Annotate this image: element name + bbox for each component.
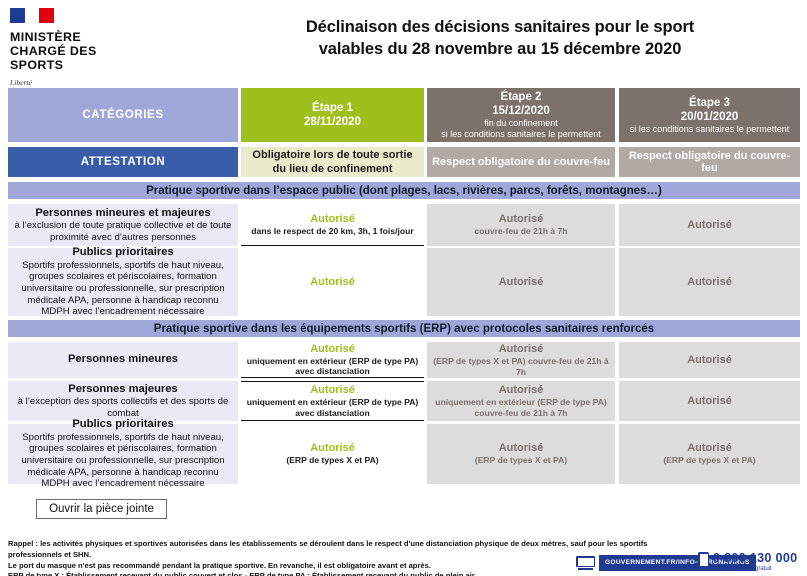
- public-row-1-step-3-status: Autorisé: [623, 219, 796, 232]
- erp-row-3-step-3-status: Autorisé: [623, 442, 796, 455]
- header-categories: CATÉGORIES: [8, 88, 238, 142]
- footer-note-line-1: Rappel : les activités physiques et spor…: [8, 539, 668, 561]
- info-phone: 0 800 130 000 appel gratuit: [698, 552, 797, 573]
- erp-row-2-label: Personnes majeures à l’exception des spo…: [8, 381, 238, 421]
- public-row-1-step-2-detail: couvre-feu de 21h à 7h: [431, 226, 611, 237]
- erp-row-1-label-title: Personnes mineures: [12, 353, 234, 367]
- public-row-1-step-3: Autorisé: [619, 204, 800, 246]
- infographic-page: MINISTÈRE CHARGÉ DES SPORTS Liberté Égal…: [0, 0, 807, 576]
- erp-row-2-label-title: Personnes majeures: [12, 383, 234, 397]
- erp-row-3-step-1: Autorisé (ERP de types X et PA): [241, 424, 424, 484]
- footer-note-line-2: Le port du masque n'est pas recommandé p…: [8, 561, 668, 572]
- step-2-sub-1: fin du confinement: [431, 118, 611, 129]
- erp-row-1-step-2-detail: (ERP de types X et PA) couvre-feu de 21h…: [431, 356, 611, 377]
- public-row-2-label-sub: Sportifs professionnels, sportifs de hau…: [12, 260, 234, 318]
- erp-row-3-step-2-status: Autorisé: [431, 442, 611, 455]
- footer-note-line-3: ERP de type X : Établissement recevant d…: [8, 571, 668, 576]
- public-row-2-step-2-status: Autorisé: [431, 276, 611, 289]
- public-row-1-label-title: Personnes mineures et majeures: [12, 207, 234, 221]
- erp-row-3-label-title: Publics prioritaires: [12, 418, 234, 432]
- step-2-date: 15/12/2020: [431, 104, 611, 118]
- erp-row-3-step-3: Autorisé (ERP de types X et PA): [619, 424, 800, 484]
- erp-row-2-step-2-status: Autorisé: [431, 384, 611, 397]
- erp-row-2-step-2: Autorisé uniquement en extérieur (ERP de…: [427, 381, 615, 421]
- erp-row-2-step-1: Autorisé uniquement en extérieur (ERP de…: [241, 381, 424, 421]
- attestation-step-3: Respect obligatoire du couvre-feu: [619, 147, 800, 177]
- erp-row-3-step-2-detail: (ERP de types X et PA): [431, 455, 611, 466]
- open-attachment-button[interactable]: Ouvrir la pièce jointe: [36, 499, 167, 519]
- erp-row-2-step-3: Autorisé: [619, 381, 800, 421]
- step-2-title: Étape 2: [431, 90, 611, 104]
- public-row-2-step-3: Autorisé: [619, 248, 800, 316]
- step-3-sub-2: si les conditions sanitaires le permette…: [623, 124, 796, 135]
- attestation-step-1: Obligatoire lors de toute sortie du lieu…: [241, 147, 424, 177]
- public-row-2-step-3-status: Autorisé: [623, 276, 796, 289]
- erp-row-1-step-3: Autorisé: [619, 342, 800, 378]
- public-row-1-step-1-status: Autorisé: [245, 213, 420, 226]
- section-band-erp: Pratique sportive dans les équipements s…: [8, 320, 800, 337]
- erp-row-2-step-1-detail: uniquement en extérieur (ERP de type PA)…: [245, 397, 420, 418]
- erp-row-3-step-1-status: Autorisé: [245, 442, 420, 455]
- public-row-2-label: Publics prioritaires Sportifs profession…: [8, 248, 238, 316]
- step-2-sub-2: si les conditions sanitaires le permette…: [431, 129, 611, 140]
- public-row-1-step-1-detail: dans le respect de 20 km, 3h, 1 fois/jou…: [245, 226, 420, 237]
- public-row-2-step-1: Autorisé: [241, 248, 424, 316]
- step-3-date: 20/01/2020: [623, 110, 796, 124]
- step-1-title: Étape 1: [245, 101, 420, 115]
- erp-row-3-step-3-detail: (ERP de types X et PA): [623, 455, 796, 466]
- phone-text: 0 800 130 000 appel gratuit: [713, 552, 797, 573]
- erp-row-1-step-1: Autorisé uniquement en extérieur (ERP de…: [241, 342, 424, 378]
- public-row-1-label: Personnes mineures et majeures à l’exclu…: [8, 204, 238, 246]
- section-band-public: Pratique sportive dans l’espace public (…: [8, 182, 800, 199]
- phone-number: 0 800 130 000: [713, 552, 797, 565]
- erp-row-3-step-2: Autorisé (ERP de types X et PA): [427, 424, 615, 484]
- erp-row-3-label-sub: Sportifs professionnels, sportifs de hau…: [12, 432, 234, 490]
- public-row-1-step-1: Autorisé dans le respect de 20 km, 3h, 1…: [241, 204, 424, 246]
- header-step-3: Étape 3 20/01/2020 si les conditions san…: [619, 88, 800, 142]
- erp-row-1-step-1-detail: uniquement en extérieur (ERP de type PA)…: [245, 356, 420, 377]
- erp-row-1-step-3-status: Autorisé: [623, 354, 796, 367]
- attestation-step-2: Respect obligatoire du couvre-feu: [427, 147, 615, 177]
- erp-row-3-label: Publics prioritaires Sportifs profession…: [8, 424, 238, 484]
- erp-row-2-step-1-status: Autorisé: [245, 384, 420, 397]
- mobile-phone-icon: [698, 552, 709, 569]
- public-row-2-step-1-status: Autorisé: [245, 276, 420, 289]
- open-attachment-label: Ouvrir la pièce jointe: [49, 503, 154, 515]
- step-1-date: 28/11/2020: [245, 115, 420, 129]
- step-3-title: Étape 3: [623, 96, 796, 110]
- laptop-icon: [576, 556, 595, 570]
- header-step-1: Étape 1 28/11/2020: [241, 88, 424, 142]
- erp-row-2-label-sub: à l’exception des sports collectifs et d…: [12, 396, 234, 419]
- footer-notes: Rappel : les activités physiques et spor…: [8, 539, 668, 576]
- public-row-1-step-2-status: Autorisé: [431, 213, 611, 226]
- public-row-1-label-sub: à l’exclusion de toute pratique collecti…: [12, 220, 234, 243]
- erp-row-1-step-2-status: Autorisé: [431, 343, 611, 356]
- row-attestation-label: ATTESTATION: [8, 147, 238, 177]
- erp-row-1-step-2: Autorisé (ERP de types X et PA) couvre-f…: [427, 342, 615, 378]
- phone-note: appel gratuit: [713, 565, 797, 573]
- erp-row-1-step-1-status: Autorisé: [245, 343, 420, 356]
- public-row-1-step-2: Autorisé couvre-feu de 21h à 7h: [427, 204, 615, 246]
- erp-row-2-step-2-detail: uniquement en extérieur (ERP de type PA)…: [431, 397, 611, 418]
- header-step-2: Étape 2 15/12/2020 fin du confinement si…: [427, 88, 615, 142]
- erp-row-1-label: Personnes mineures: [8, 342, 238, 378]
- decision-table: CATÉGORIES Étape 1 28/11/2020 Étape 2 15…: [0, 0, 807, 576]
- erp-row-3-step-1-detail: (ERP de types X et PA): [245, 455, 420, 466]
- public-row-2-label-title: Publics prioritaires: [12, 246, 234, 260]
- erp-row-2-step-3-status: Autorisé: [623, 395, 796, 408]
- public-row-2-step-2: Autorisé: [427, 248, 615, 316]
